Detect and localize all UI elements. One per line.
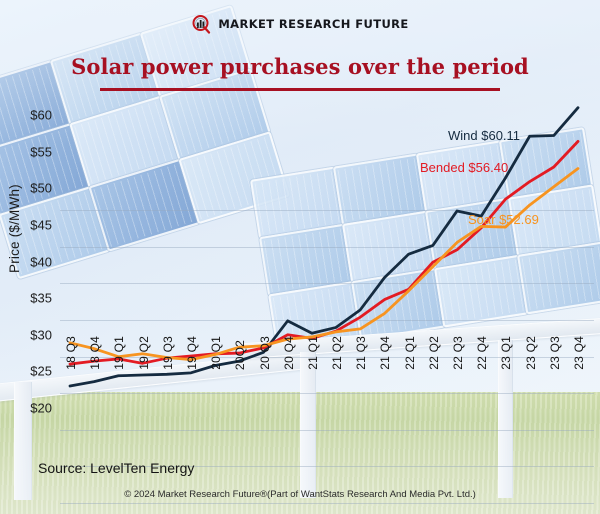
line-chart: Price ($/MWh) $20$25$30$35$40$45$50$55$6… [0,95,600,425]
series-label-soar: Soar $52.69 [468,212,539,227]
x-axis-tick-22-Q3: 22 Q3 [451,336,465,370]
x-axis-tick-20Q2: 20Q2 [233,340,247,370]
x-axis-tick-19-Q2: 19 Q2 [137,336,151,370]
x-axis-tick-20-Q1: 20 Q1 [209,336,223,370]
series-label-bended: Bended $56.40 [420,160,508,175]
x-axis-tick-23-Q4: 23 Q4 [572,336,586,370]
copyright-note: © 2024 Market Research Future®(Part of W… [0,489,600,500]
plot-area [0,95,600,425]
x-axis-tick-20-Q3: 20 Q3 [258,336,272,370]
x-axis-tick-21-Q1: 21 Q1 [306,336,320,370]
x-axis-tick-19-Q3: 19 Q3 [161,336,175,370]
market-research-future-logo-icon [191,14,211,34]
x-axis-ticks: 18 Q318 Q419 Q119 Q219 Q319 Q420 Q120Q22… [0,318,600,370]
x-axis-tick-22-Q2: 22 Q2 [427,336,441,370]
gridline [60,503,594,504]
x-axis-tick-19-Q1: 19 Q1 [112,336,126,370]
brand-header: MARKET RESEARCH FUTURE [0,14,600,34]
x-axis-tick-22-Q4: 22 Q4 [475,336,489,370]
x-axis-tick-19-Q4: 19 Q4 [185,336,199,370]
source-note: Source: LevelTen Energy [38,460,194,476]
x-axis-tick-21-Q4: 21 Q4 [378,336,392,370]
x-axis-tick-18-Q3: 18 Q3 [64,336,78,370]
x-axis-tick-23-Q1: 23 Q1 [499,336,513,370]
x-axis-tick-22-Q1: 22 Q1 [403,336,417,370]
series-label-wind: Wind $60.11 [448,128,520,143]
x-axis-tick-18-Q4: 18 Q4 [88,336,102,370]
title-underline [100,88,500,91]
x-axis-tick-21-Q2: 21 Q2 [330,336,344,370]
x-axis-tick-20-Q4: 20 Q4 [282,336,296,370]
x-axis-tick-23-Q2: 23 Q2 [524,336,538,370]
brand-name: MARKET RESEARCH FUTURE [218,17,408,31]
gridline [60,430,594,431]
x-axis-tick-21-Q3: 21 Q3 [354,336,368,370]
x-axis-tick-23-Q3: 23 Q3 [548,336,562,370]
chart-infographic: MARKET RESEARCH FUTURE Solar power purch… [0,0,600,514]
page-title: Solar power purchases over the period [0,54,600,79]
